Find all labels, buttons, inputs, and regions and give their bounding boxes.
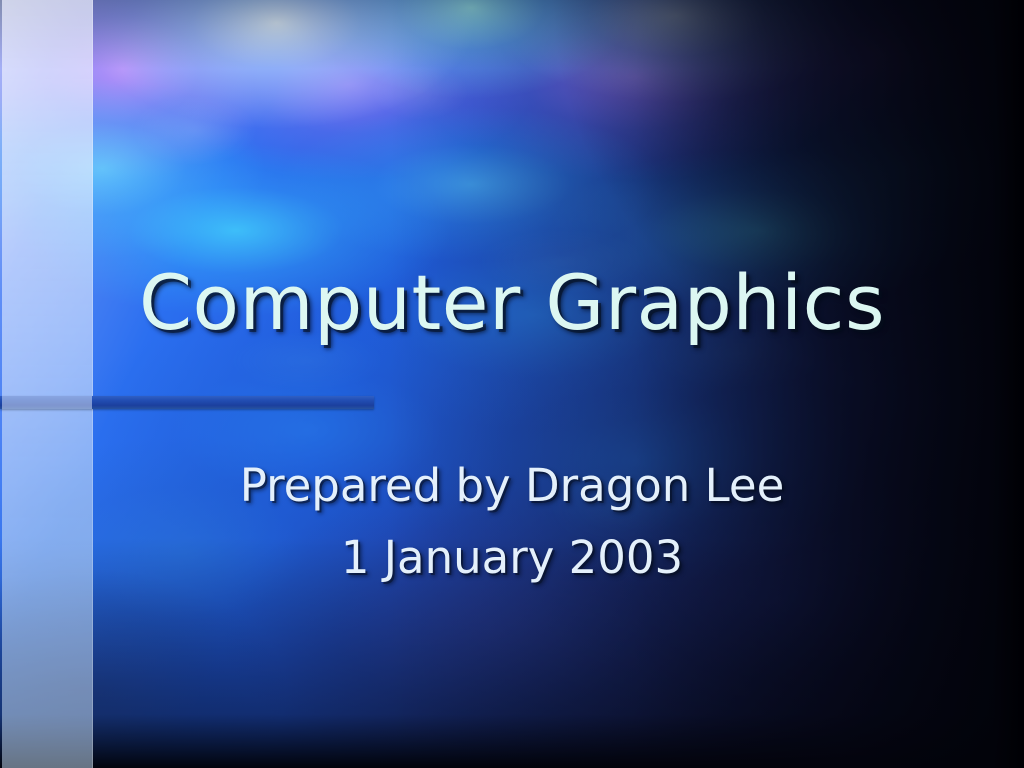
slide-subtitle: Prepared by Dragon Lee 1 January 2003 — [0, 450, 1024, 594]
presentation-title-slide: Computer Graphics Prepared by Dragon Lee… — [0, 0, 1024, 768]
slide-title: Computer Graphics — [0, 258, 1024, 347]
slide-subtitle-line-author: Prepared by Dragon Lee — [0, 450, 1024, 522]
slide-text-layer: Computer Graphics Prepared by Dragon Lee… — [0, 0, 1024, 768]
slide-subtitle-line-date: 1 January 2003 — [0, 522, 1024, 594]
